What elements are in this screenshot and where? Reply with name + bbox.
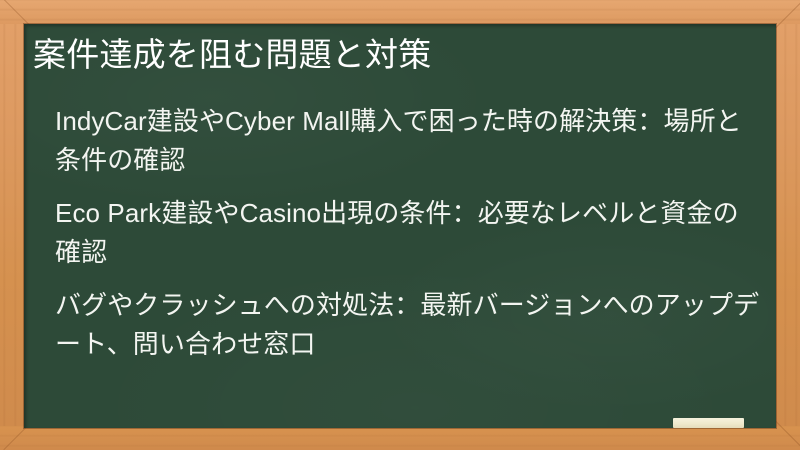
bullet-item-1: IndyCar建設やCyber Mall購入で困った時の解決策：場所と条件の確認 — [55, 102, 763, 180]
bullet-item-3: バグやクラッシュへの対処法：最新バージョンへのアップデート、問い合わせ窓口 — [55, 286, 763, 364]
chalk-stick — [673, 418, 744, 428]
slide-blackboard: 案件達成を阻む問題と対策 IndyCar建設やCyber Mall購入で困った時… — [0, 0, 800, 450]
frame-rail-bottom — [0, 426, 800, 450]
blackboard-surface: 案件達成を阻む問題と対策 IndyCar建設やCyber Mall購入で困った時… — [24, 24, 776, 428]
bullet-list: IndyCar建設やCyber Mall購入で困った時の解決策：場所と条件の確認… — [55, 102, 763, 364]
frame-rail-top — [0, 0, 800, 24]
slide-title: 案件達成を阻む問題と対策 — [33, 33, 753, 77]
bullet-item-2: Eco Park建設やCasino出現の条件：必要なレベルと資金の確認 — [55, 194, 763, 272]
slide-content: 案件達成を阻む問題と対策 IndyCar建設やCyber Mall購入で困った時… — [24, 24, 776, 428]
